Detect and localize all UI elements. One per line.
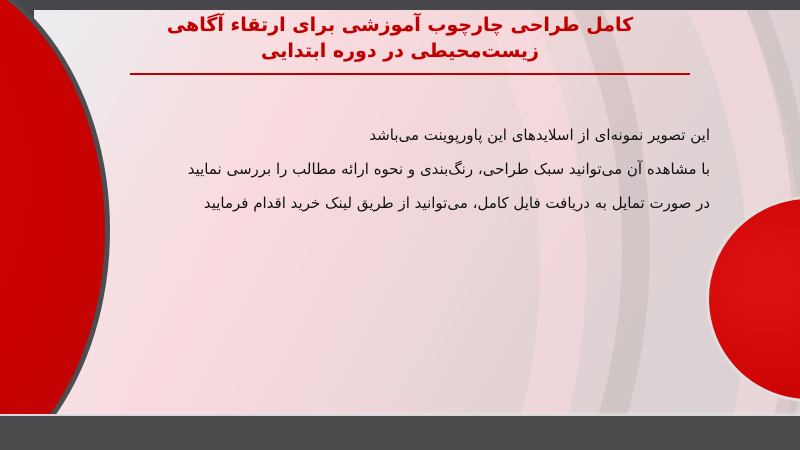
bottom-frame-band xyxy=(0,414,800,450)
top-frame-band xyxy=(0,0,800,10)
body-line-1: این تصویر نمونه‌ای از اسلایدهای این پاور… xyxy=(90,118,710,152)
body-line-2: با مشاهده آن می‌توانید سبک طراحی، رنگ‌بن… xyxy=(90,152,710,186)
body-line-3: در صورت تمایل به دریافت فایل کامل، می‌تو… xyxy=(90,186,710,220)
title-underline-rule xyxy=(130,73,690,75)
slide-title: کامل طراحی چارچوب آموزشی برای ارتقاء آگا… xyxy=(60,12,740,64)
title-line-1: کامل طراحی چارچوب آموزشی برای ارتقاء آگا… xyxy=(60,12,740,38)
slide-canvas: کامل طراحی چارچوب آموزشی برای ارتقاء آگا… xyxy=(0,0,800,450)
slide-body-text: این تصویر نمونه‌ای از اسلایدهای این پاور… xyxy=(90,118,710,220)
title-line-2: زیست‌محیطی در دوره ابتدایی xyxy=(60,38,740,64)
